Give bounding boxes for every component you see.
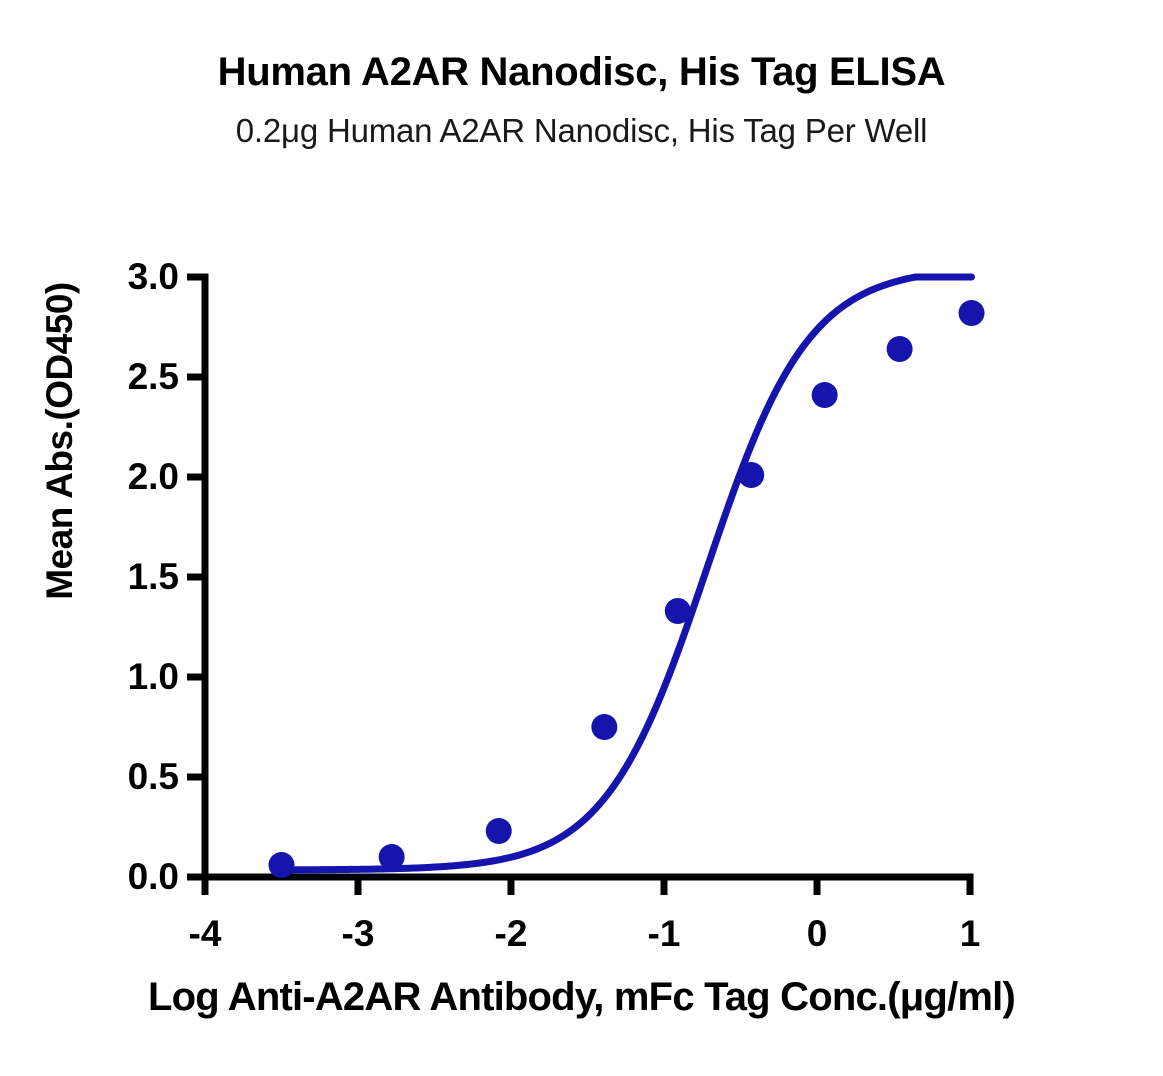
data-point-marker [486, 818, 512, 844]
y-axis-label: Mean Abs.(OD450) [39, 231, 81, 651]
data-point-marker [812, 382, 838, 408]
data-point-marker [591, 714, 617, 740]
x-axis-tick-label: -2 [495, 913, 528, 955]
data-point-marker [269, 852, 295, 878]
data-series-group [269, 277, 985, 878]
data-point-marker [959, 300, 985, 326]
chart-figure: Human A2AR Nanodisc, His Tag ELISA 0.2μg… [0, 0, 1163, 1076]
axes-group [187, 277, 970, 895]
data-point-marker [887, 336, 913, 362]
y-axis-tick-label: 2.5 [80, 356, 179, 398]
x-axis-label: Log Anti-A2AR Antibody, mFc Tag Conc.(μg… [0, 975, 1163, 1020]
x-axis-tick-label: -4 [189, 913, 222, 955]
y-axis-tick-label: 3.0 [80, 256, 179, 298]
data-point-marker [379, 844, 405, 870]
y-axis-tick-label: 1.5 [80, 556, 179, 598]
data-point-marker [665, 598, 691, 624]
y-axis-tick-label: 2.0 [80, 456, 179, 498]
y-axis-tick-label: 1.0 [80, 656, 179, 698]
x-axis-tick-label: 1 [960, 913, 981, 955]
y-axis-tick-label: 0.5 [80, 756, 179, 798]
x-axis-tick-label: -1 [648, 913, 681, 955]
x-axis-tick-label: 0 [807, 913, 828, 955]
series-fit-curve [282, 277, 972, 870]
x-axis-tick-label: -3 [342, 913, 375, 955]
plot-area [0, 0, 1163, 1076]
y-axis-tick-label: 0.0 [80, 856, 179, 898]
data-point-marker [738, 462, 764, 488]
